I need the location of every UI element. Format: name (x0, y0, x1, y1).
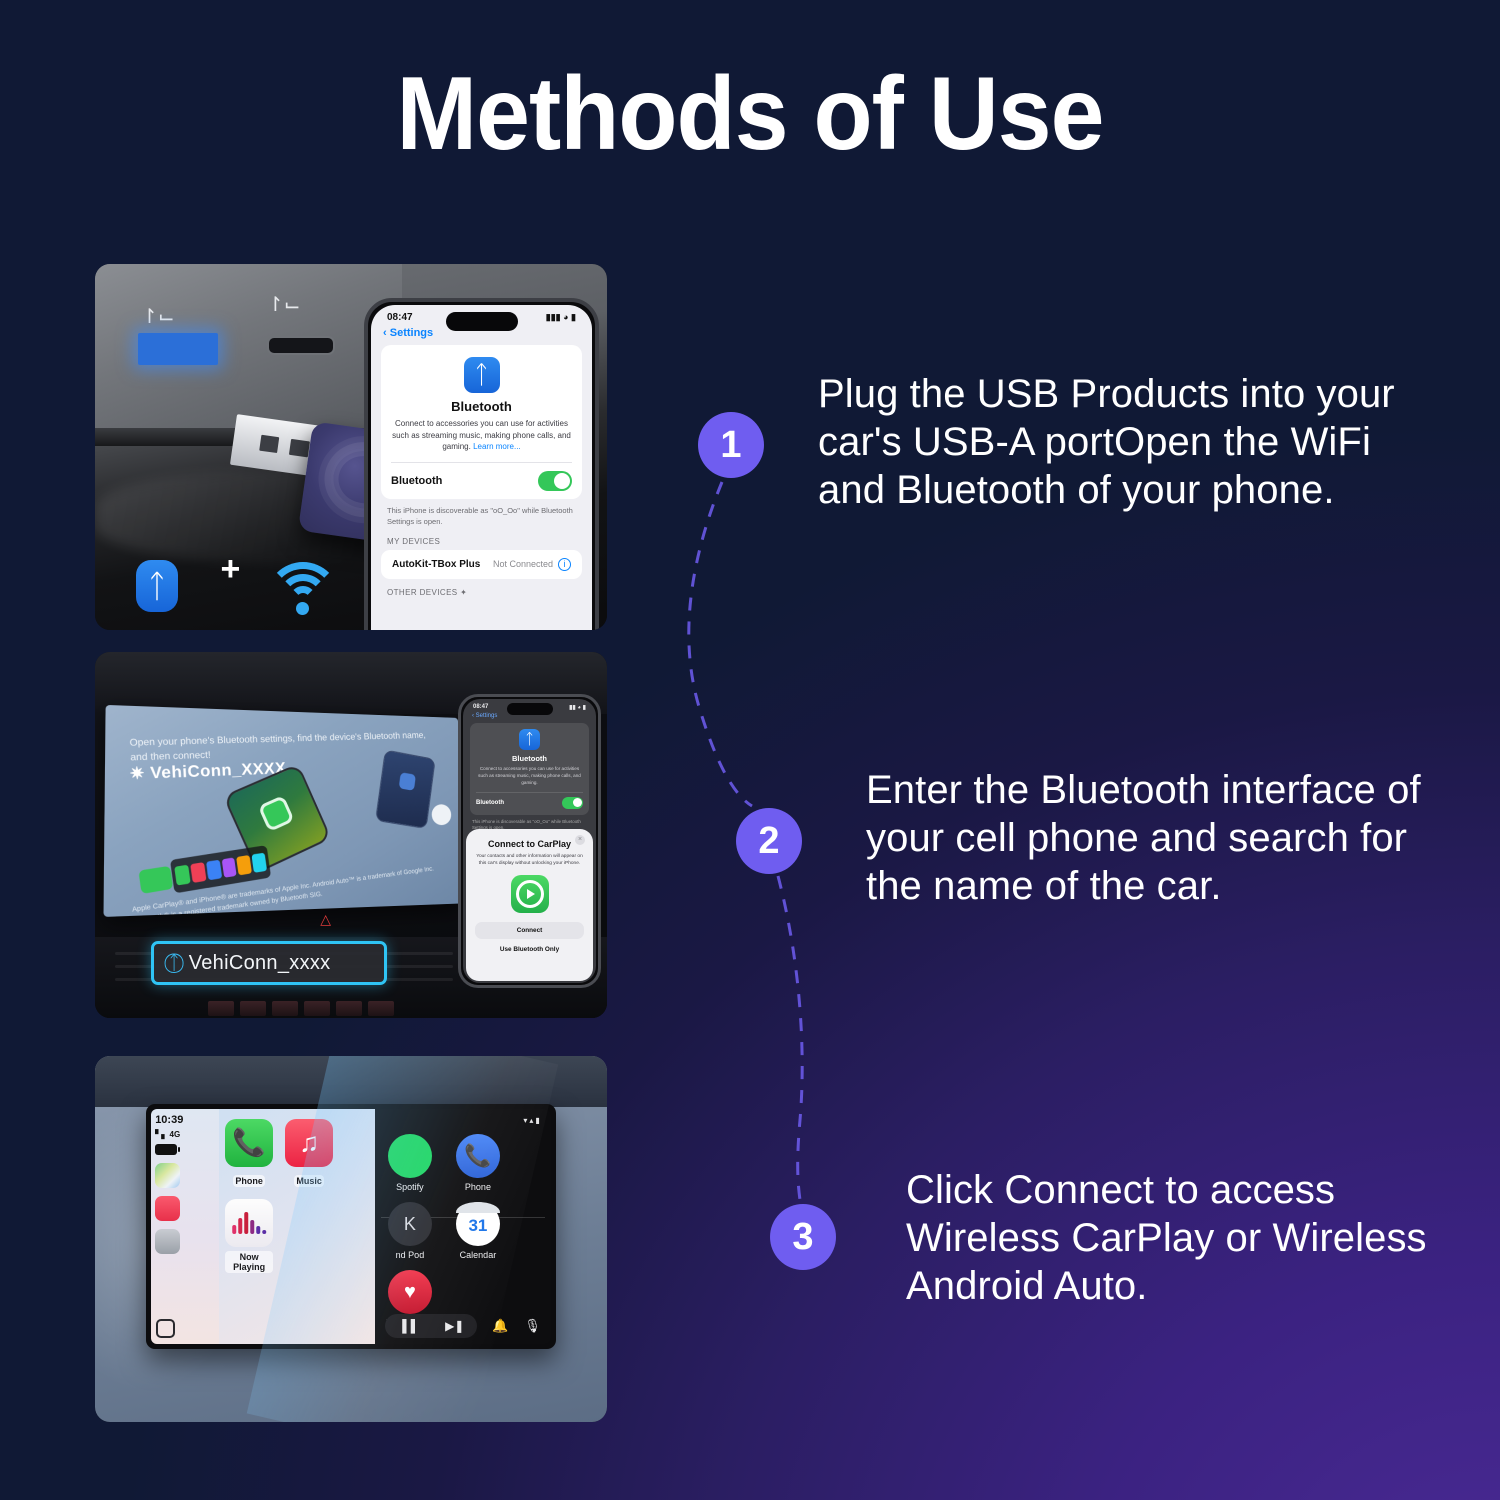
phone-mockup-connect-carplay: 08:47 ▮▮ ◕ ▮ ‹ Settings ᛏ Bluetooth Conn… (458, 694, 601, 988)
info-icon[interactable]: i (558, 558, 571, 571)
app-label: Music (294, 1175, 324, 1187)
home-button-icon[interactable] (156, 1319, 175, 1338)
plus-icon: + (220, 552, 240, 586)
carplay-app-grid: 📞 Phone ♫ Music (219, 1109, 375, 1344)
device-row[interactable]: AutoKit-TBox Plus Not Connected i (381, 550, 582, 579)
other-devices-header: OTHER DEVICES ✦ (371, 579, 592, 601)
connect-button[interactable]: Connect (475, 922, 584, 939)
step-number-3: 3 (770, 1204, 836, 1270)
status-indicators: ▮▮▮ ◕ ▮ (546, 312, 576, 323)
phone-icon: 📞 (456, 1134, 500, 1178)
phone-notch (507, 703, 553, 715)
aa-app-phone[interactable]: 📞 Phone (451, 1134, 505, 1192)
phone-icon: 📞 (225, 1119, 273, 1167)
bluetooth-app-icon: ᛏ (519, 729, 540, 750)
illustration-phone-androidauto (375, 749, 436, 829)
carplay-app-phone[interactable]: 📞 Phone (225, 1119, 273, 1189)
app-label: nd Pod (383, 1250, 437, 1260)
carplay-time: 10:39 (155, 1115, 215, 1126)
hazard-light-icon: △ (320, 912, 337, 927)
bluetooth-toggle[interactable] (562, 797, 583, 809)
bluetooth-card: ᛏ Bluetooth Connect to accessories you c… (381, 345, 582, 499)
carplay-sidebar: 10:39 ▘▖ 4G (151, 1109, 219, 1344)
car-headunit-screen: Open your phone's Bluetooth settings, fi… (104, 704, 462, 916)
bluetooth-toggle-label: Bluetooth (391, 475, 442, 487)
bluetooth-app-icon: ᛏ (464, 357, 500, 393)
app-label: Now Playing (225, 1251, 273, 1273)
carplay-app-now-playing[interactable]: Now Playing (225, 1199, 273, 1275)
illustration-carplay-icon (139, 866, 173, 894)
iheartradio-icon: ♥ (388, 1270, 432, 1314)
device-status: Not Connected (493, 559, 553, 569)
bluetooth-toggle-row[interactable]: Bluetooth (476, 792, 583, 809)
step-text-2: Enter the Bluetooth interface of your ce… (866, 766, 1446, 910)
android-auto-panel: ▾▴▮ Spotify 📞 Phone (375, 1109, 551, 1344)
dialog-title: Connect to CarPlay (475, 839, 584, 849)
bluetooth-description: Connect to accessories you can use for a… (391, 418, 572, 453)
poster-root: Methods of Use ↾⌙ ↾⌙ ᛏ + 08:47 ▮ (0, 0, 1500, 1500)
image-panel-step1: ↾⌙ ↾⌙ ᛏ + 08:47 ▮▮▮ ◕ ▮ ‹ S (95, 264, 607, 630)
music-icon: ♫ (285, 1119, 333, 1167)
bluetooth-icon: ᛏ⃝ (168, 954, 179, 973)
carplay-app-music[interactable]: ♫ Music (285, 1119, 333, 1189)
usb-a-port (138, 333, 218, 366)
status-time: 08:47 (473, 704, 488, 711)
phone-mockup-bluetooth-settings: 08:47 ▮▮▮ ◕ ▮ ‹ Settings ᛏ Bluetooth Con… (364, 298, 599, 630)
dialog-description: Your contacts and other information will… (475, 853, 584, 868)
carplay-icon (511, 875, 549, 913)
usb-a-symbol-icon: ↾⌙ (141, 307, 175, 327)
status-time: 08:47 (387, 312, 413, 323)
now-playing-icon (225, 1199, 273, 1247)
usb-c-port (267, 336, 335, 355)
wifi-icon (264, 560, 342, 612)
aa-app-spotify[interactable]: Spotify (383, 1134, 437, 1192)
signal-bars-icon: ▘▖ (155, 1130, 167, 1139)
use-bluetooth-only-button[interactable]: Use Bluetooth Only (475, 946, 584, 953)
learn-more-link[interactable]: Learn more... (473, 442, 521, 451)
bluetooth-toggle[interactable] (538, 471, 572, 491)
pause-button[interactable]: ▐▐ (398, 1319, 415, 1333)
battery-icon (155, 1144, 177, 1155)
step-text-1: Plug the USB Products into your car's US… (818, 370, 1428, 514)
app-label: Calendar (451, 1250, 505, 1260)
bluetooth-description: Connect to accessories you can use for a… (476, 766, 583, 787)
car-headunit-bezel: 10:39 ▘▖ 4G 📞 (146, 1104, 556, 1349)
aa-app-pod[interactable]: K nd Pod (383, 1202, 437, 1260)
now-playing-icon[interactable] (155, 1229, 180, 1254)
aa-status-icons: ▾▴▮ (523, 1116, 541, 1125)
bluetooth-icon: ᛏ (136, 560, 178, 612)
spotify-icon (388, 1134, 432, 1178)
bluetooth-toggle-row[interactable]: Bluetooth (391, 462, 572, 491)
aa-app-calendar[interactable]: 31 Calendar (451, 1202, 505, 1260)
close-icon[interactable]: × (575, 835, 585, 845)
bluetooth-card: ᛏ Bluetooth Connect to accessories you c… (470, 723, 589, 815)
bluetooth-title: Bluetooth (476, 754, 583, 763)
music-icon[interactable] (155, 1196, 180, 1221)
status-indicators: ▮▮ ◕ ▮ (569, 704, 586, 711)
my-devices-header: MY DEVICES (371, 528, 592, 550)
step-text-3: Click Connect to access Wireless CarPlay… (906, 1166, 1466, 1310)
image-panel-step3: 10:39 ▘▖ 4G 📞 (95, 1056, 607, 1422)
bluetooth-toggle-label: Bluetooth (476, 800, 504, 806)
bell-icon[interactable]: 🔔 (492, 1318, 508, 1334)
discoverable-note: This iPhone is discoverable as "oO_Oo" w… (371, 499, 592, 528)
media-control-bar: ▐▐ ▶❚ (385, 1314, 476, 1338)
bluetooth-name-highlight: ᛏ⃝ VehiConn_xxxx (151, 941, 387, 985)
bluetooth-device-name: VehiConn_xxxx (189, 952, 331, 975)
connect-to-carplay-dialog: × Connect to CarPlay Your contacts and o… (466, 829, 593, 981)
usb-c-symbol-icon: ↾⌙ (267, 295, 301, 315)
calendar-icon: 31 (456, 1202, 500, 1246)
carplay-signal: ▘▖ 4G (155, 1130, 215, 1139)
app-label: Phone (233, 1175, 265, 1187)
device-name: AutoKit-TBox Plus (392, 559, 480, 570)
mic-icon[interactable]: 🎙 (524, 1318, 541, 1334)
illustration-app-dock (170, 845, 271, 893)
illustration-android-auto-badge (432, 804, 452, 825)
app-label: Spotify (383, 1182, 437, 1192)
climate-button-row (208, 1001, 394, 1016)
phone-notch (446, 312, 518, 331)
maps-icon[interactable] (155, 1163, 180, 1188)
step-number-1: 1 (698, 412, 764, 478)
app-label: Phone (451, 1182, 505, 1192)
podcast-icon: K (388, 1202, 432, 1246)
step-number-2: 2 (736, 808, 802, 874)
image-panel-step2: Open your phone's Bluetooth settings, fi… (95, 652, 607, 1018)
bluetooth-title: Bluetooth (391, 399, 572, 414)
usb-port-plate: ↾⌙ ↾⌙ (95, 264, 402, 436)
next-track-button[interactable]: ▶❚ (445, 1319, 464, 1333)
page-title: Methods of Use (53, 58, 1448, 170)
